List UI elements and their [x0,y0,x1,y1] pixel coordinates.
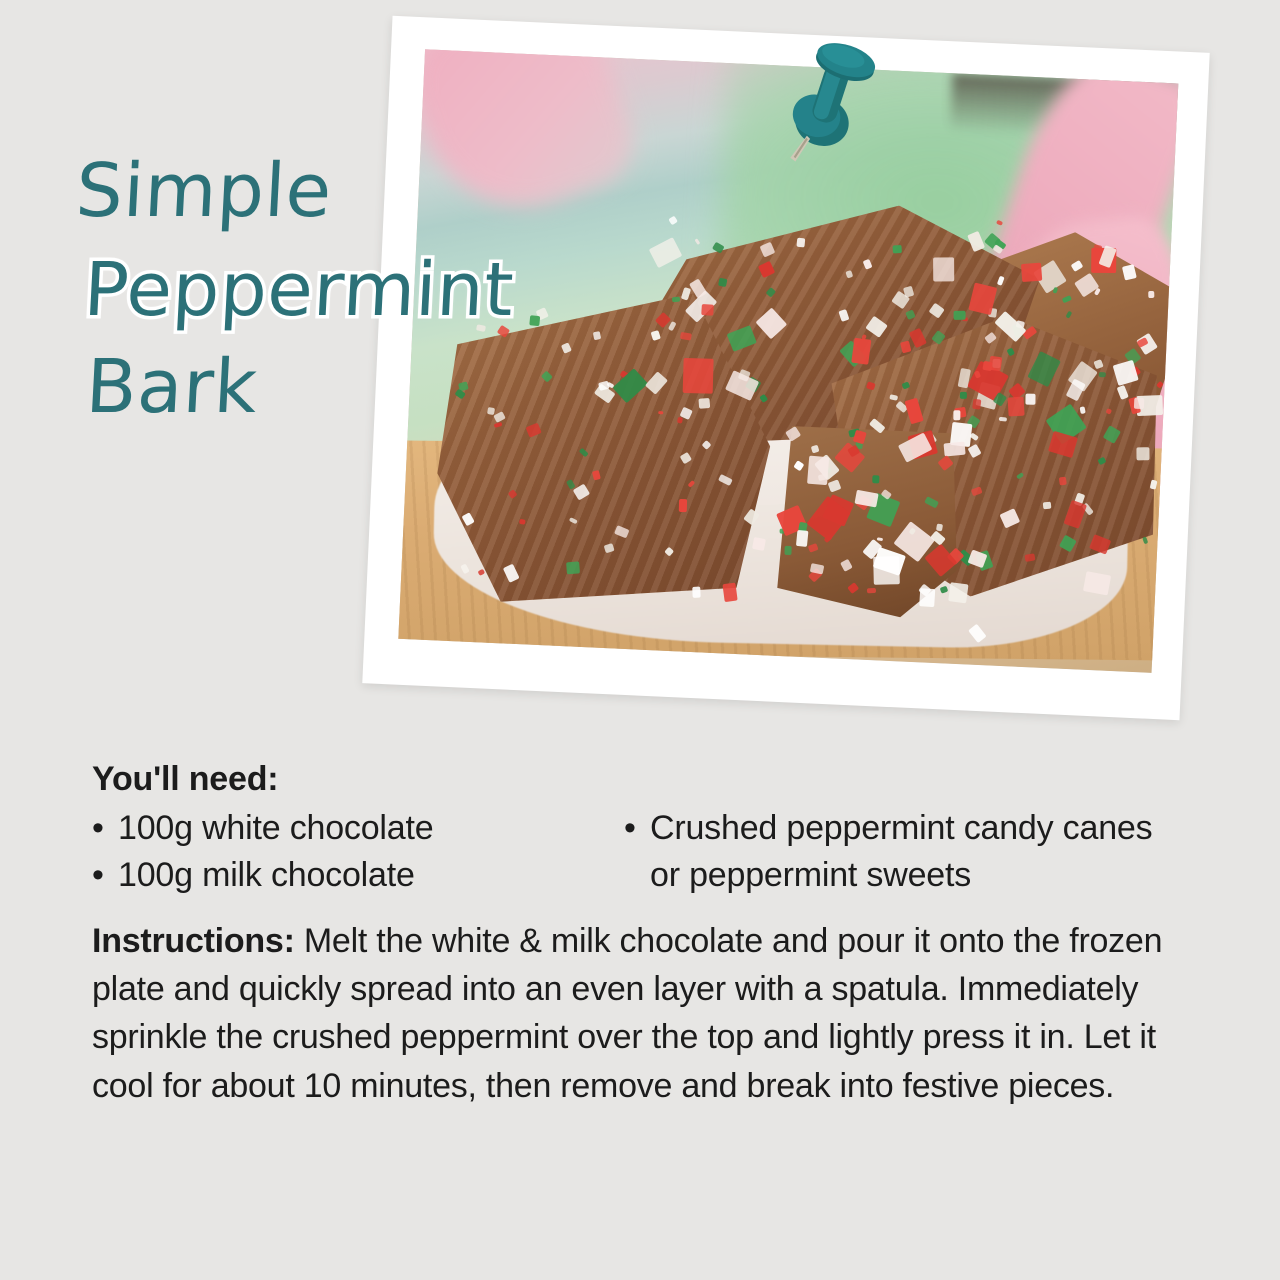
ingredient-text: 100g white chocolate [118,805,624,852]
ingredient-text: Crushed peppermint candy canes or pepper… [650,805,1184,899]
ingredient-item: • Crushed peppermint candy canes or pepp… [624,805,1184,899]
bullet-icon: • [92,852,118,899]
ingredients-list: • 100g white chocolate • 100g milk choco… [92,805,1197,899]
ingredients-column-right: • Crushed peppermint candy canes or pepp… [624,805,1184,899]
title-line-2: Peppermint [0,249,642,332]
ingredients-heading: You'll need: [92,760,1197,799]
bullet-icon: • [624,805,650,899]
ingredient-item: • 100g white chocolate [92,805,624,852]
recipe-content: You'll need: • 100g white chocolate • 10… [92,760,1197,1110]
ingredient-item: • 100g milk chocolate [92,852,624,899]
instructions-paragraph: Instructions: Melt the white & milk choc… [92,917,1197,1110]
title-line-3: Bark [0,346,642,429]
pushpin [775,27,885,167]
ingredient-text: 100g milk chocolate [118,852,624,899]
page-title: Simple Peppermint Bark [0,150,640,429]
bullet-icon: • [92,805,118,852]
ingredients-column-left: • 100g white chocolate • 100g milk choco… [92,805,624,899]
instructions-label: Instructions: [92,922,295,960]
title-line-1: Simple [0,150,642,233]
